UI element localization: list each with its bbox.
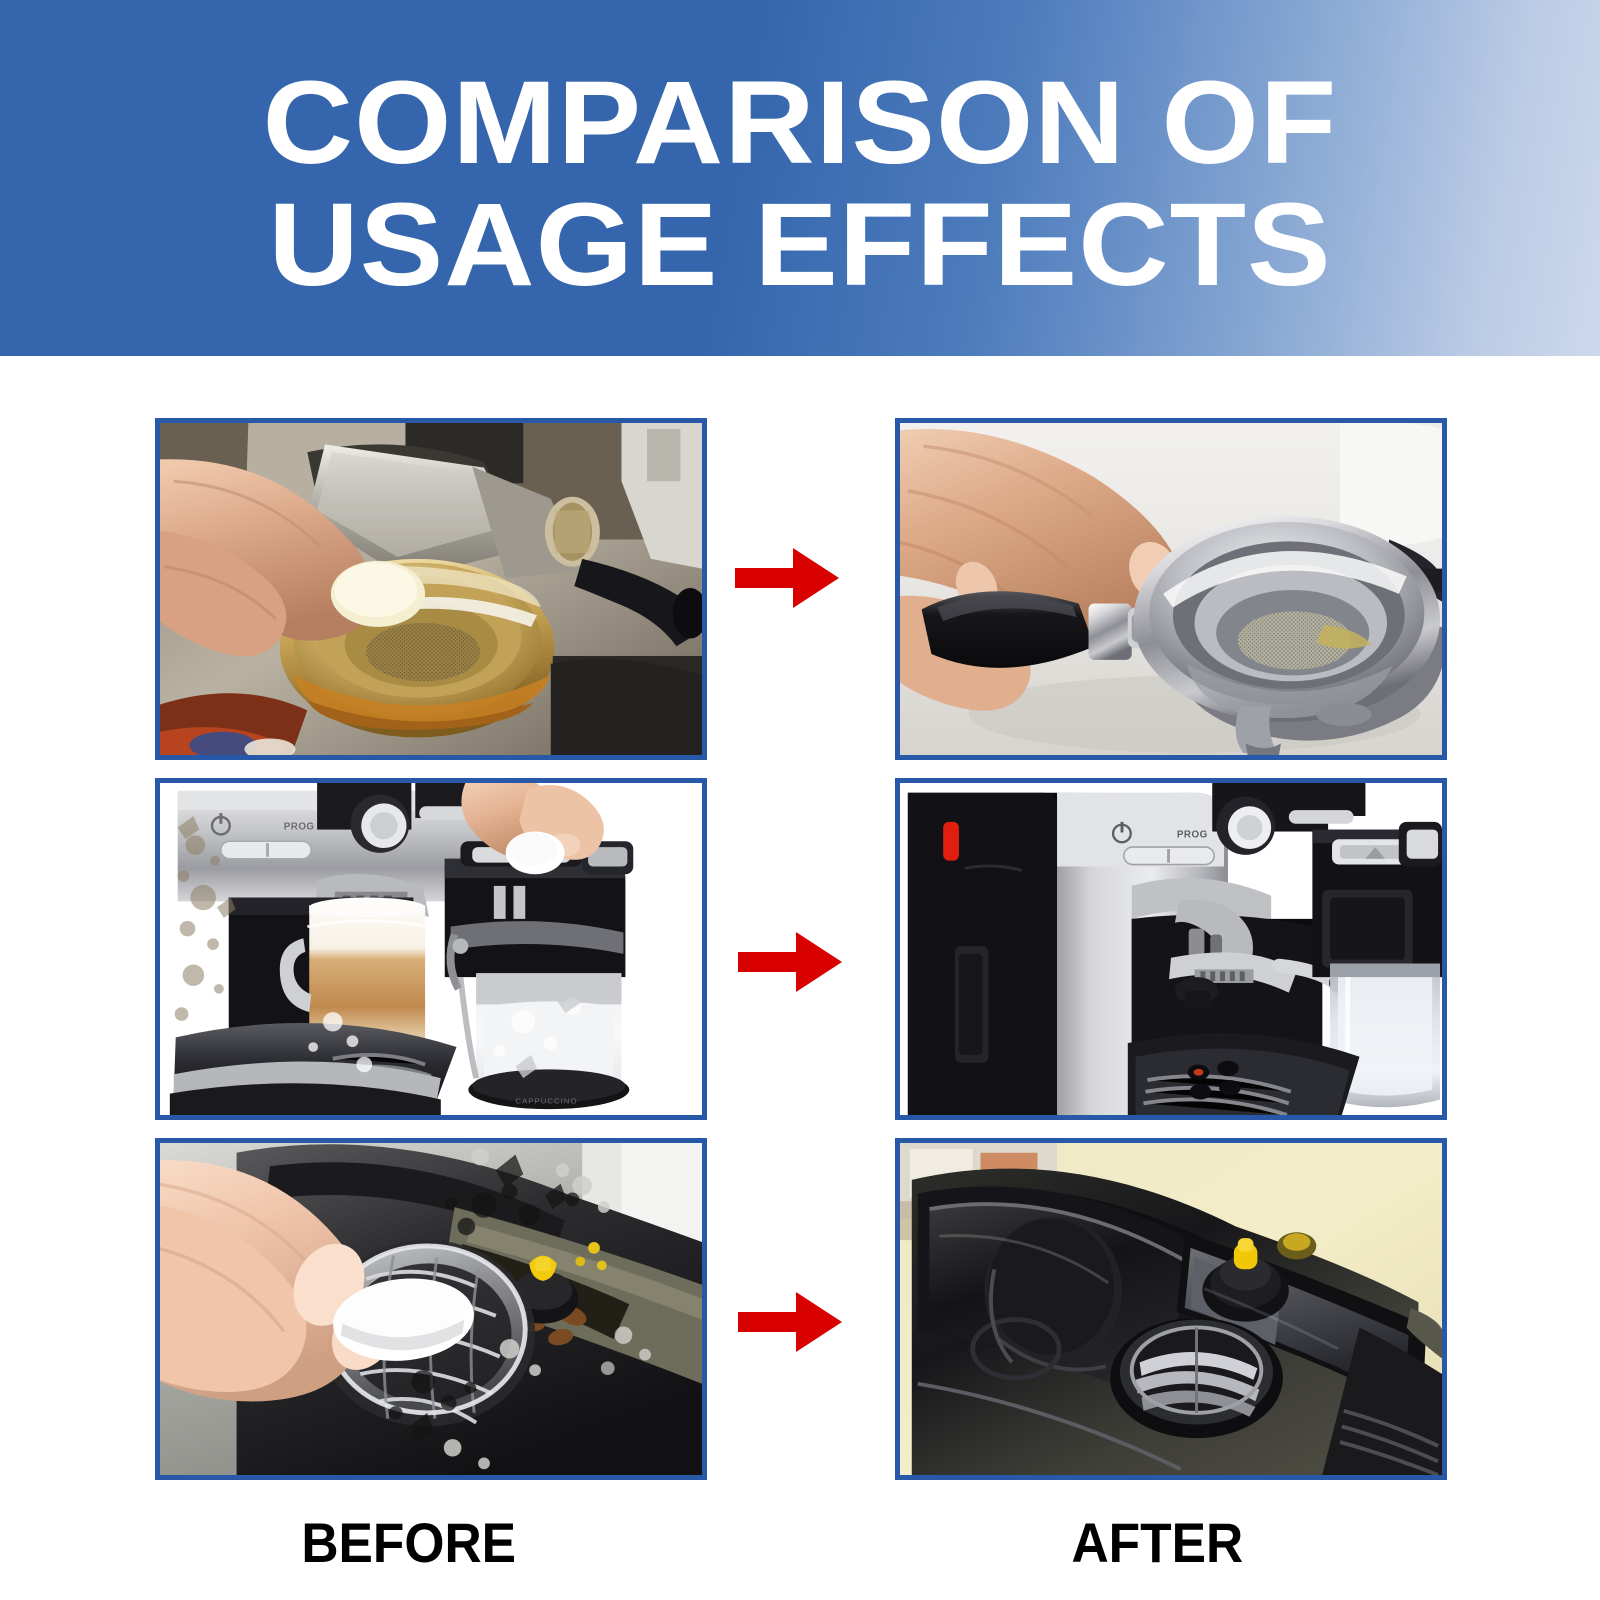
arrow-right-glyph <box>738 926 842 998</box>
caption-after: AFTER <box>1071 1514 1243 1572</box>
photo-frame-before-3 <box>155 1138 707 1480</box>
photo-frame-after-2: PROG <box>895 778 1447 1120</box>
arrow-right-glyph <box>735 542 839 614</box>
bean-hopper-dirty-illustration <box>160 1143 702 1475</box>
arrow-right-glyph <box>738 1286 842 1358</box>
svg-text:CAPPUCCINO: CAPPUCCINO <box>515 1096 577 1105</box>
espresso-group-head-dirty-illustration <box>160 423 702 755</box>
espresso-machine-dirty-illustration: PROG <box>160 783 702 1115</box>
photo-frame-before-1 <box>155 418 707 760</box>
photo-frame-after-3 <box>895 1138 1447 1480</box>
arrow-right-icon-1 <box>735 542 839 614</box>
svg-text:PROG: PROG <box>1177 829 1208 840</box>
espresso-machine-clean-illustration: PROG <box>900 783 1442 1115</box>
svg-text:PROG: PROG <box>284 822 315 833</box>
photo-frame-after-1 <box>895 418 1447 760</box>
arrow-right-icon-2 <box>738 926 842 998</box>
comparison-infographic: COMPARISON OF USAGE EFFECTS <box>0 0 1600 1600</box>
page-title: COMPARISON OF USAGE EFFECTS <box>0 62 1600 306</box>
photo-frame-before-2: PROG <box>155 778 707 1120</box>
caption-before: BEFORE <box>301 1514 516 1572</box>
bean-hopper-clean-illustration <box>900 1143 1442 1475</box>
header-banner: COMPARISON OF USAGE EFFECTS <box>0 0 1600 356</box>
arrow-right-icon-3 <box>738 1286 842 1358</box>
portafilter-clean-illustration <box>900 423 1442 755</box>
